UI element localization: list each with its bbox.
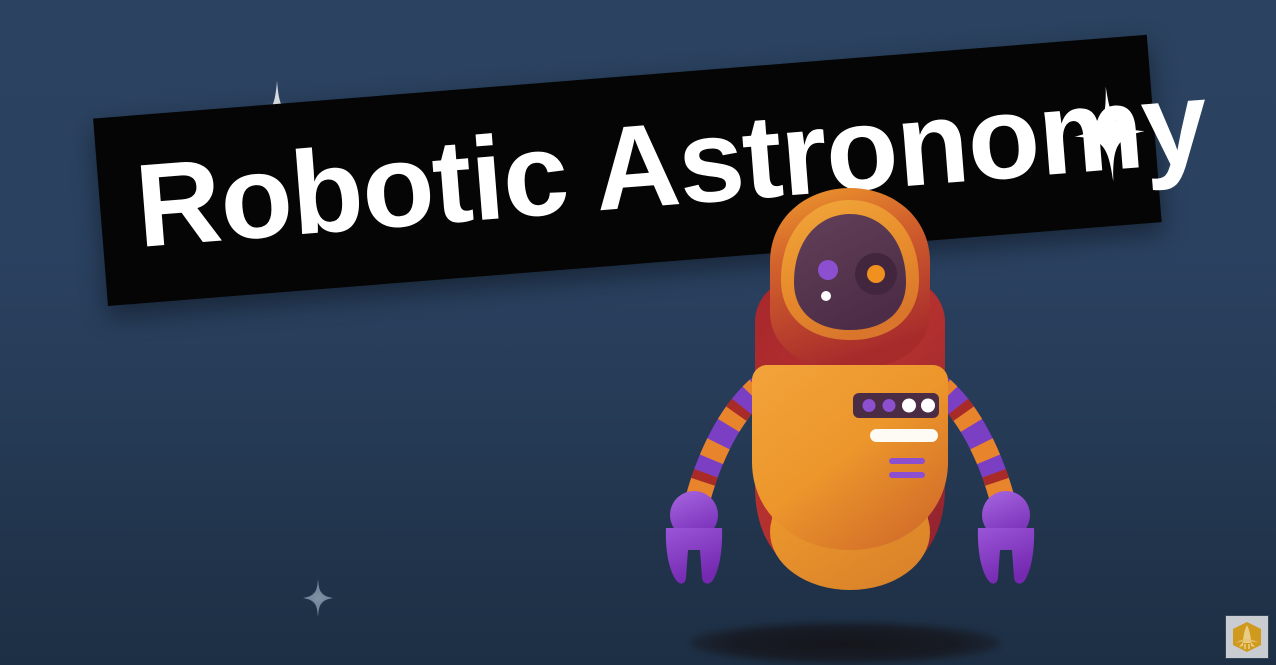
robot-right-eye (867, 265, 885, 283)
panel-dot-4 (921, 399, 935, 413)
robot-chest-plate (752, 365, 948, 550)
robot-left-arm (666, 389, 758, 584)
sparkle-star-faint-icon (296, 576, 340, 620)
robot-right-arm (942, 389, 1034, 584)
video-frame: Robotic Astronomy (0, 0, 1276, 665)
panel-dot-1 (863, 399, 876, 412)
robot-ground-shadow (690, 622, 1000, 664)
robot-head (770, 188, 930, 370)
page-title: Robotic Astronomy (132, 63, 1211, 266)
rocket-hexagon-logo[interactable] (1226, 616, 1268, 658)
robot-left-eye-dot (821, 291, 831, 301)
title-sparkle-icon (1066, 79, 1152, 194)
panel-dot-2 (883, 399, 896, 412)
panel-dash-1 (889, 458, 925, 464)
orange-robot-mascot (660, 262, 1040, 607)
panel-status-bar (870, 429, 938, 442)
panel-dash-2 (889, 472, 925, 478)
panel-dot-3 (902, 399, 916, 413)
robot-left-eye (818, 260, 838, 280)
